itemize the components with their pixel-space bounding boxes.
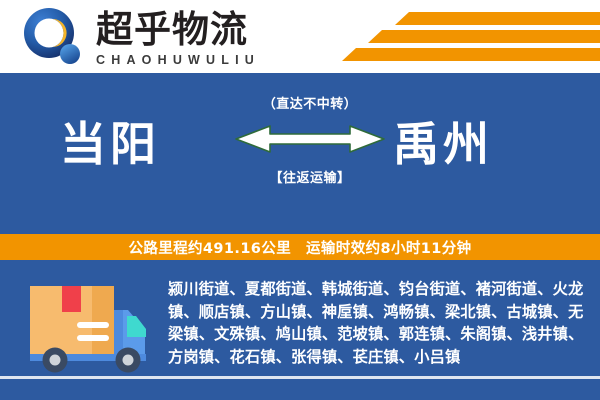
covered-districts-text: 颍川街道、夏都街道、韩城街道、钧台街道、褚河街道、火龙镇、顺店镇、方山镇、神垕镇…	[168, 278, 592, 368]
roundtrip-note: 【往返运输】	[230, 167, 390, 186]
banner-header: 超乎物流 CHAOHUWULIU	[0, 0, 600, 73]
logistics-route-banner: 超乎物流 CHAOHUWULIU 当阳 （直达不中转） 【往返运输】 禹州 公路…	[0, 0, 600, 400]
destination-city: 禹州	[393, 116, 493, 172]
brand-block: 超乎物流 CHAOHUWULIU	[96, 9, 306, 68]
double-headed-arrow-icon	[230, 118, 390, 163]
origin-city: 当阳	[60, 116, 160, 172]
route-panel: 当阳 （直达不中转） 【往返运输】 禹州	[0, 73, 600, 232]
chaohu-circle-logo-icon	[22, 8, 84, 66]
stripe-2	[368, 30, 600, 43]
stripe-3	[342, 48, 600, 61]
delivery-truck-icon	[22, 280, 157, 376]
coverage-panel: 颍川街道、夏都街道、韩城街道、钧台街道、褚河街道、火龙镇、顺店镇、方山镇、神垕镇…	[0, 262, 600, 400]
direct-service-note: （直达不中转）	[230, 93, 390, 112]
route-arrow-group: （直达不中转） 【往返运输】	[230, 91, 390, 211]
stripe-1	[395, 12, 600, 25]
brand-name-cn: 超乎物流	[96, 9, 306, 51]
distance-info-bar: 公路里程约491.16公里 运输时效约8小时11分钟	[0, 232, 600, 262]
orange-speed-stripes-icon	[342, 10, 600, 68]
bottom-divider	[0, 376, 600, 379]
distance-duration-text: 公路里程约491.16公里 运输时效约8小时11分钟	[128, 237, 471, 258]
brand-name-en: CHAOHUWULIU	[96, 52, 306, 68]
